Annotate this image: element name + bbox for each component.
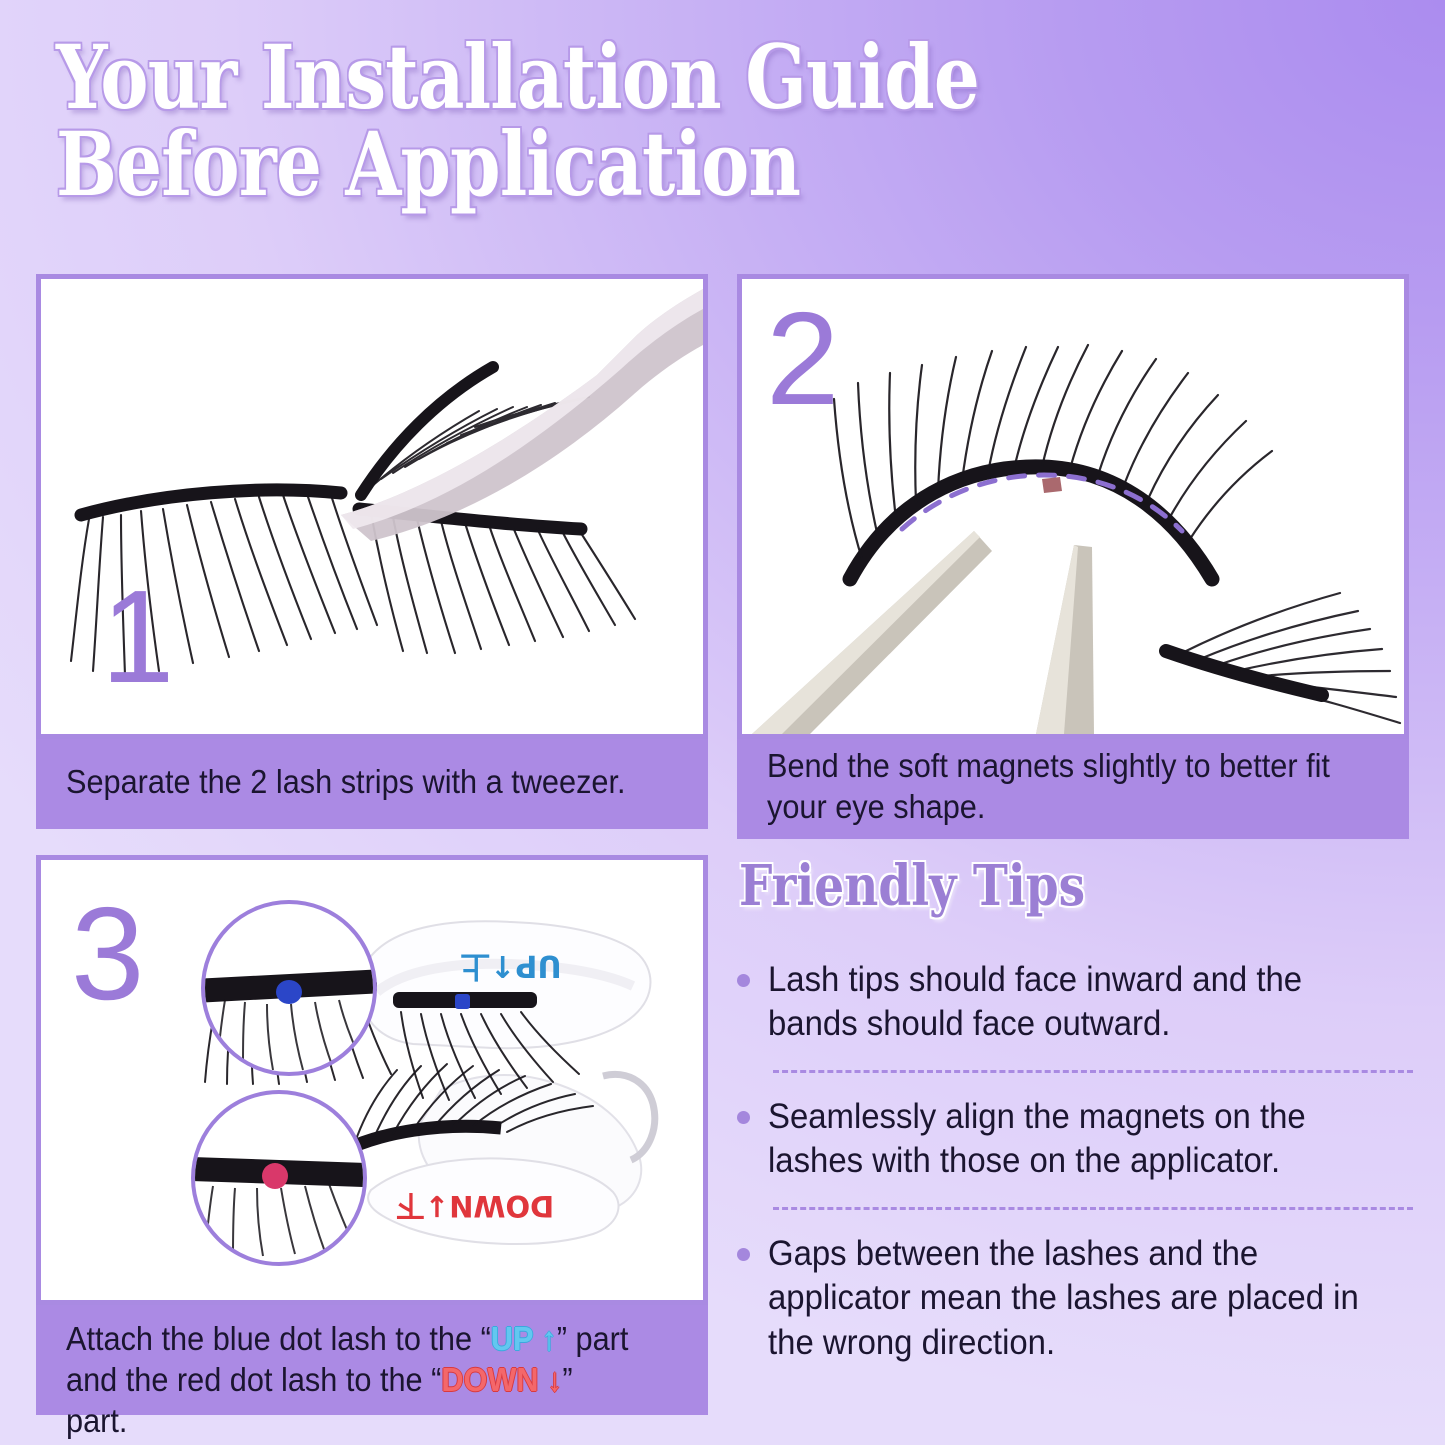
step-3-caption-text: Attach the blue dot lash to the “UP ↑” p…: [66, 1319, 635, 1442]
step-2-caption-text: Bend the soft magnets slightly to better…: [767, 746, 1336, 828]
page-title: Your Installation Guide Before Applicati…: [56, 34, 1114, 208]
step-3-number: 3: [71, 888, 144, 1020]
caption-part-2: ” part: [557, 1320, 629, 1357]
tip-item: Lash tips should face inward and the ban…: [737, 958, 1427, 1046]
step-2-illustration: [742, 279, 1404, 734]
tip-text: Seamlessly align the magnets on the lash…: [768, 1095, 1387, 1183]
bullet-icon: [737, 1111, 750, 1124]
tips-title: Friendly Tips: [739, 858, 1317, 914]
step-1-number: 1: [101, 571, 174, 703]
blue-dot-inset: [201, 900, 377, 1076]
step-2-card: 2: [737, 274, 1409, 739]
tip-item: Gaps between the lashes and the applicat…: [737, 1232, 1427, 1364]
tip-text: Gaps between the lashes and the applicat…: [768, 1232, 1387, 1364]
svg-text:UP↑上: UP↑上: [460, 948, 561, 983]
step-2-caption: Bend the soft magnets slightly to better…: [737, 739, 1409, 839]
blue-dot-detail: [205, 904, 373, 1072]
bullet-icon: [737, 1248, 750, 1261]
bending-lash-band-graphic: [742, 279, 1404, 734]
step-3-caption: Attach the blue dot lash to the “UP ↑” p…: [36, 1305, 708, 1415]
up-label: UP ↑: [491, 1320, 557, 1357]
svg-text:DOWN↓下: DOWN↓下: [396, 1189, 554, 1223]
step-2-number: 2: [766, 293, 839, 425]
infographic-page: Your Installation Guide Before Applicati…: [0, 0, 1445, 1445]
bullet-icon: [737, 974, 750, 987]
tip-item: Seamlessly align the magnets on the lash…: [737, 1095, 1427, 1183]
red-dot-inset: [191, 1090, 367, 1266]
step-1-caption: Separate the 2 lash strips with a tweeze…: [36, 739, 708, 829]
tips-divider: [773, 1070, 1413, 1073]
friendly-tips-section: Friendly Tips Lash tips should face inwa…: [737, 858, 1427, 1418]
caption-part-3: and the red dot lash to the “: [66, 1361, 441, 1398]
step-3-card: UP↑上 DOWN↓下: [36, 855, 708, 1305]
down-label: DOWN ↓: [441, 1361, 562, 1398]
tip-text: Lash tips should face inward and the ban…: [768, 958, 1387, 1046]
step-1-card: 1: [36, 274, 708, 739]
red-dot-detail: [195, 1094, 363, 1262]
tips-divider: [773, 1207, 1413, 1210]
caption-part-1: Attach the blue dot lash to the “: [66, 1320, 491, 1357]
step-1-caption-text: Separate the 2 lash strips with a tweeze…: [66, 762, 626, 803]
